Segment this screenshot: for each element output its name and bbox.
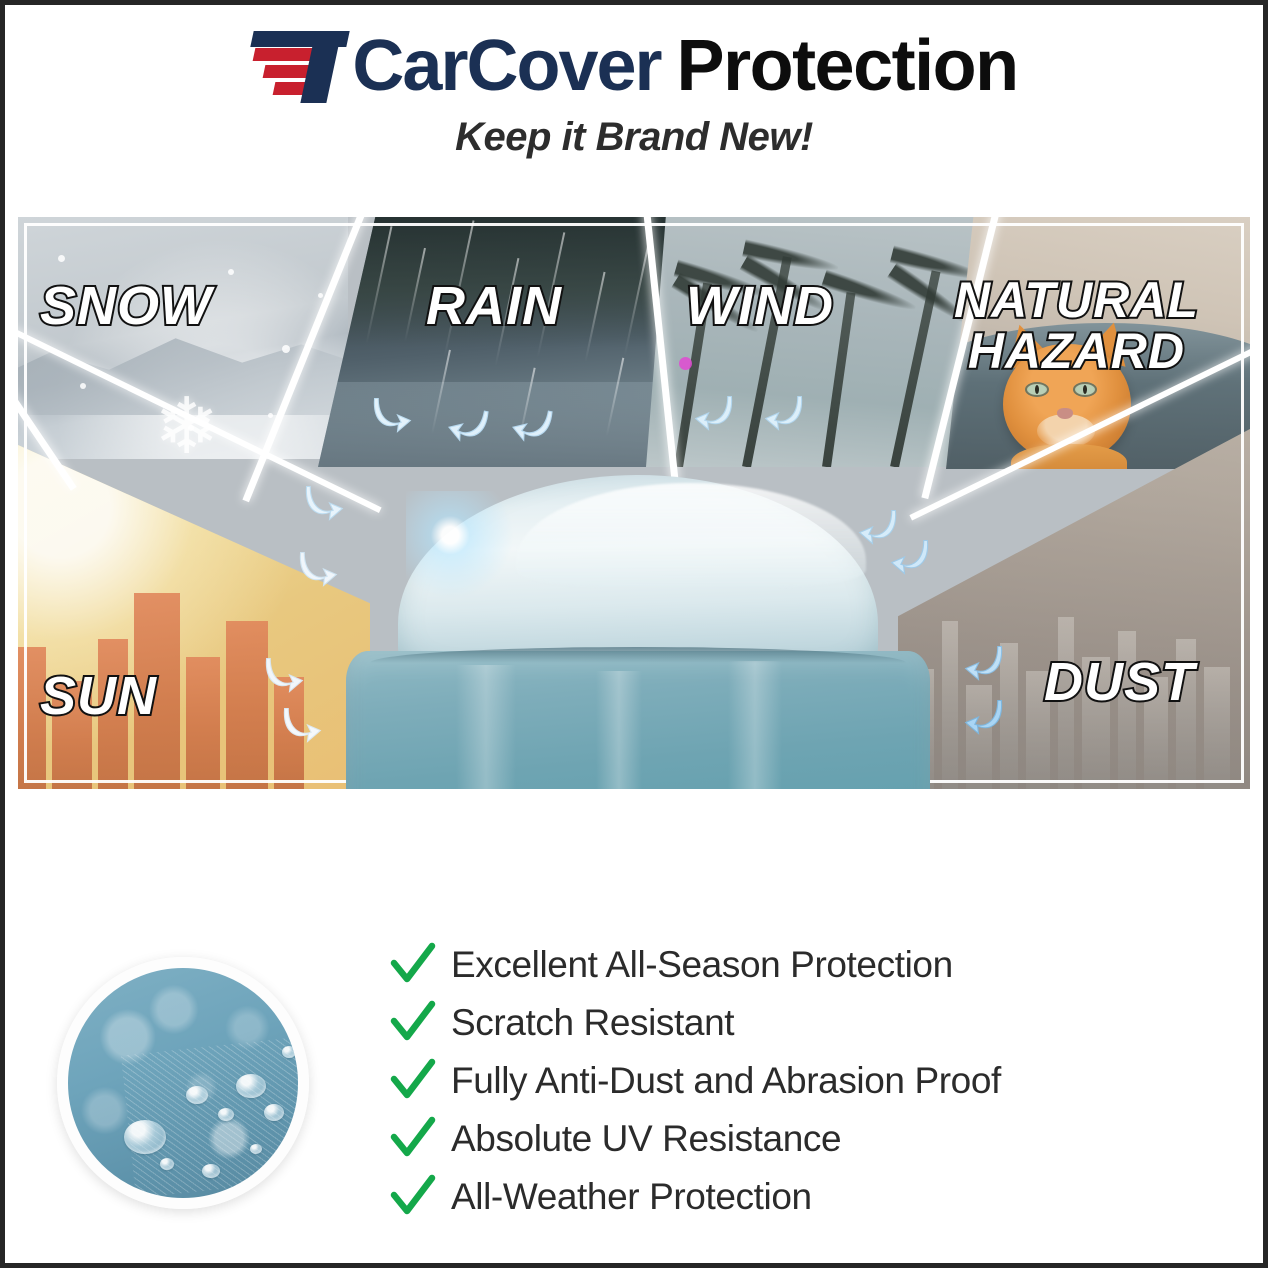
benefit-label: All-Weather Protection [451, 1176, 812, 1218]
curved-deflection-arrow-icon [443, 400, 494, 451]
brand-name: CarCover [352, 28, 660, 104]
benefit-label: Excellent All-Season Protection [451, 944, 953, 986]
list-item: Fully Anti-Dust and Abrasion Proof [389, 1053, 1001, 1109]
covered-car [318, 441, 958, 789]
ad-canvas: CarCover Protection Keep it Brand New! ❄ [0, 0, 1268, 1268]
curved-deflection-arrow-icon [888, 535, 932, 579]
list-item: All-Weather Protection [389, 1169, 1001, 1225]
panel-label-rain: RAIN [426, 279, 562, 334]
green-check-icon [389, 1173, 437, 1221]
curved-deflection-arrow-icon [370, 393, 414, 437]
weather-collage: ❄ [18, 217, 1250, 789]
panel-label-snow: SNOW [40, 279, 212, 334]
list-item: Absolute UV Resistance [389, 1111, 1001, 1167]
panel-snow: ❄ [18, 217, 348, 459]
brand-lockup: CarCover Protection [250, 23, 1017, 109]
benefits-list: Excellent All-Season Protection Scratch … [389, 937, 1001, 1225]
green-check-icon [389, 999, 437, 1047]
curved-deflection-arrow-icon [296, 547, 340, 591]
header: CarCover Protection Keep it Brand New! [5, 23, 1263, 160]
fabric-swatch [45, 945, 345, 1245]
curved-deflection-arrow-icon [507, 400, 558, 451]
curved-deflection-arrow-icon [762, 391, 806, 435]
curved-deflection-arrow-icon [962, 695, 1006, 739]
list-item: Excellent All-Season Protection [389, 937, 1001, 993]
panel-label-sun: SUN [40, 669, 157, 724]
curved-deflection-arrow-icon [692, 391, 736, 435]
panel-label-dust: DUST [1044, 655, 1195, 710]
list-item: Scratch Resistant [389, 995, 1001, 1051]
benefit-label: Scratch Resistant [451, 1002, 734, 1044]
water-beading-fabric-closeup-icon [57, 957, 309, 1209]
tagline: Keep it Brand New! [455, 115, 813, 160]
panel-label-natural-hazard: NATURAL HAZARD [954, 275, 1199, 377]
curved-deflection-arrow-icon [280, 703, 324, 747]
curved-deflection-arrow-icon [302, 481, 346, 525]
green-check-icon [389, 941, 437, 989]
benefit-label: Fully Anti-Dust and Abrasion Proof [451, 1060, 1001, 1102]
curved-deflection-arrow-icon [962, 641, 1006, 685]
curved-deflection-arrow-icon [262, 653, 306, 697]
green-check-icon [389, 1057, 437, 1105]
benefit-label: Absolute UV Resistance [451, 1118, 841, 1160]
features-section: Excellent All-Season Protection Scratch … [5, 805, 1263, 1265]
icarcover-wing-logo-icon [250, 29, 354, 103]
green-check-icon [389, 1115, 437, 1163]
snowflake-icon: ❄ [154, 387, 219, 459]
brand-suffix: Protection [677, 28, 1018, 104]
panel-label-wind: WIND [686, 279, 834, 334]
